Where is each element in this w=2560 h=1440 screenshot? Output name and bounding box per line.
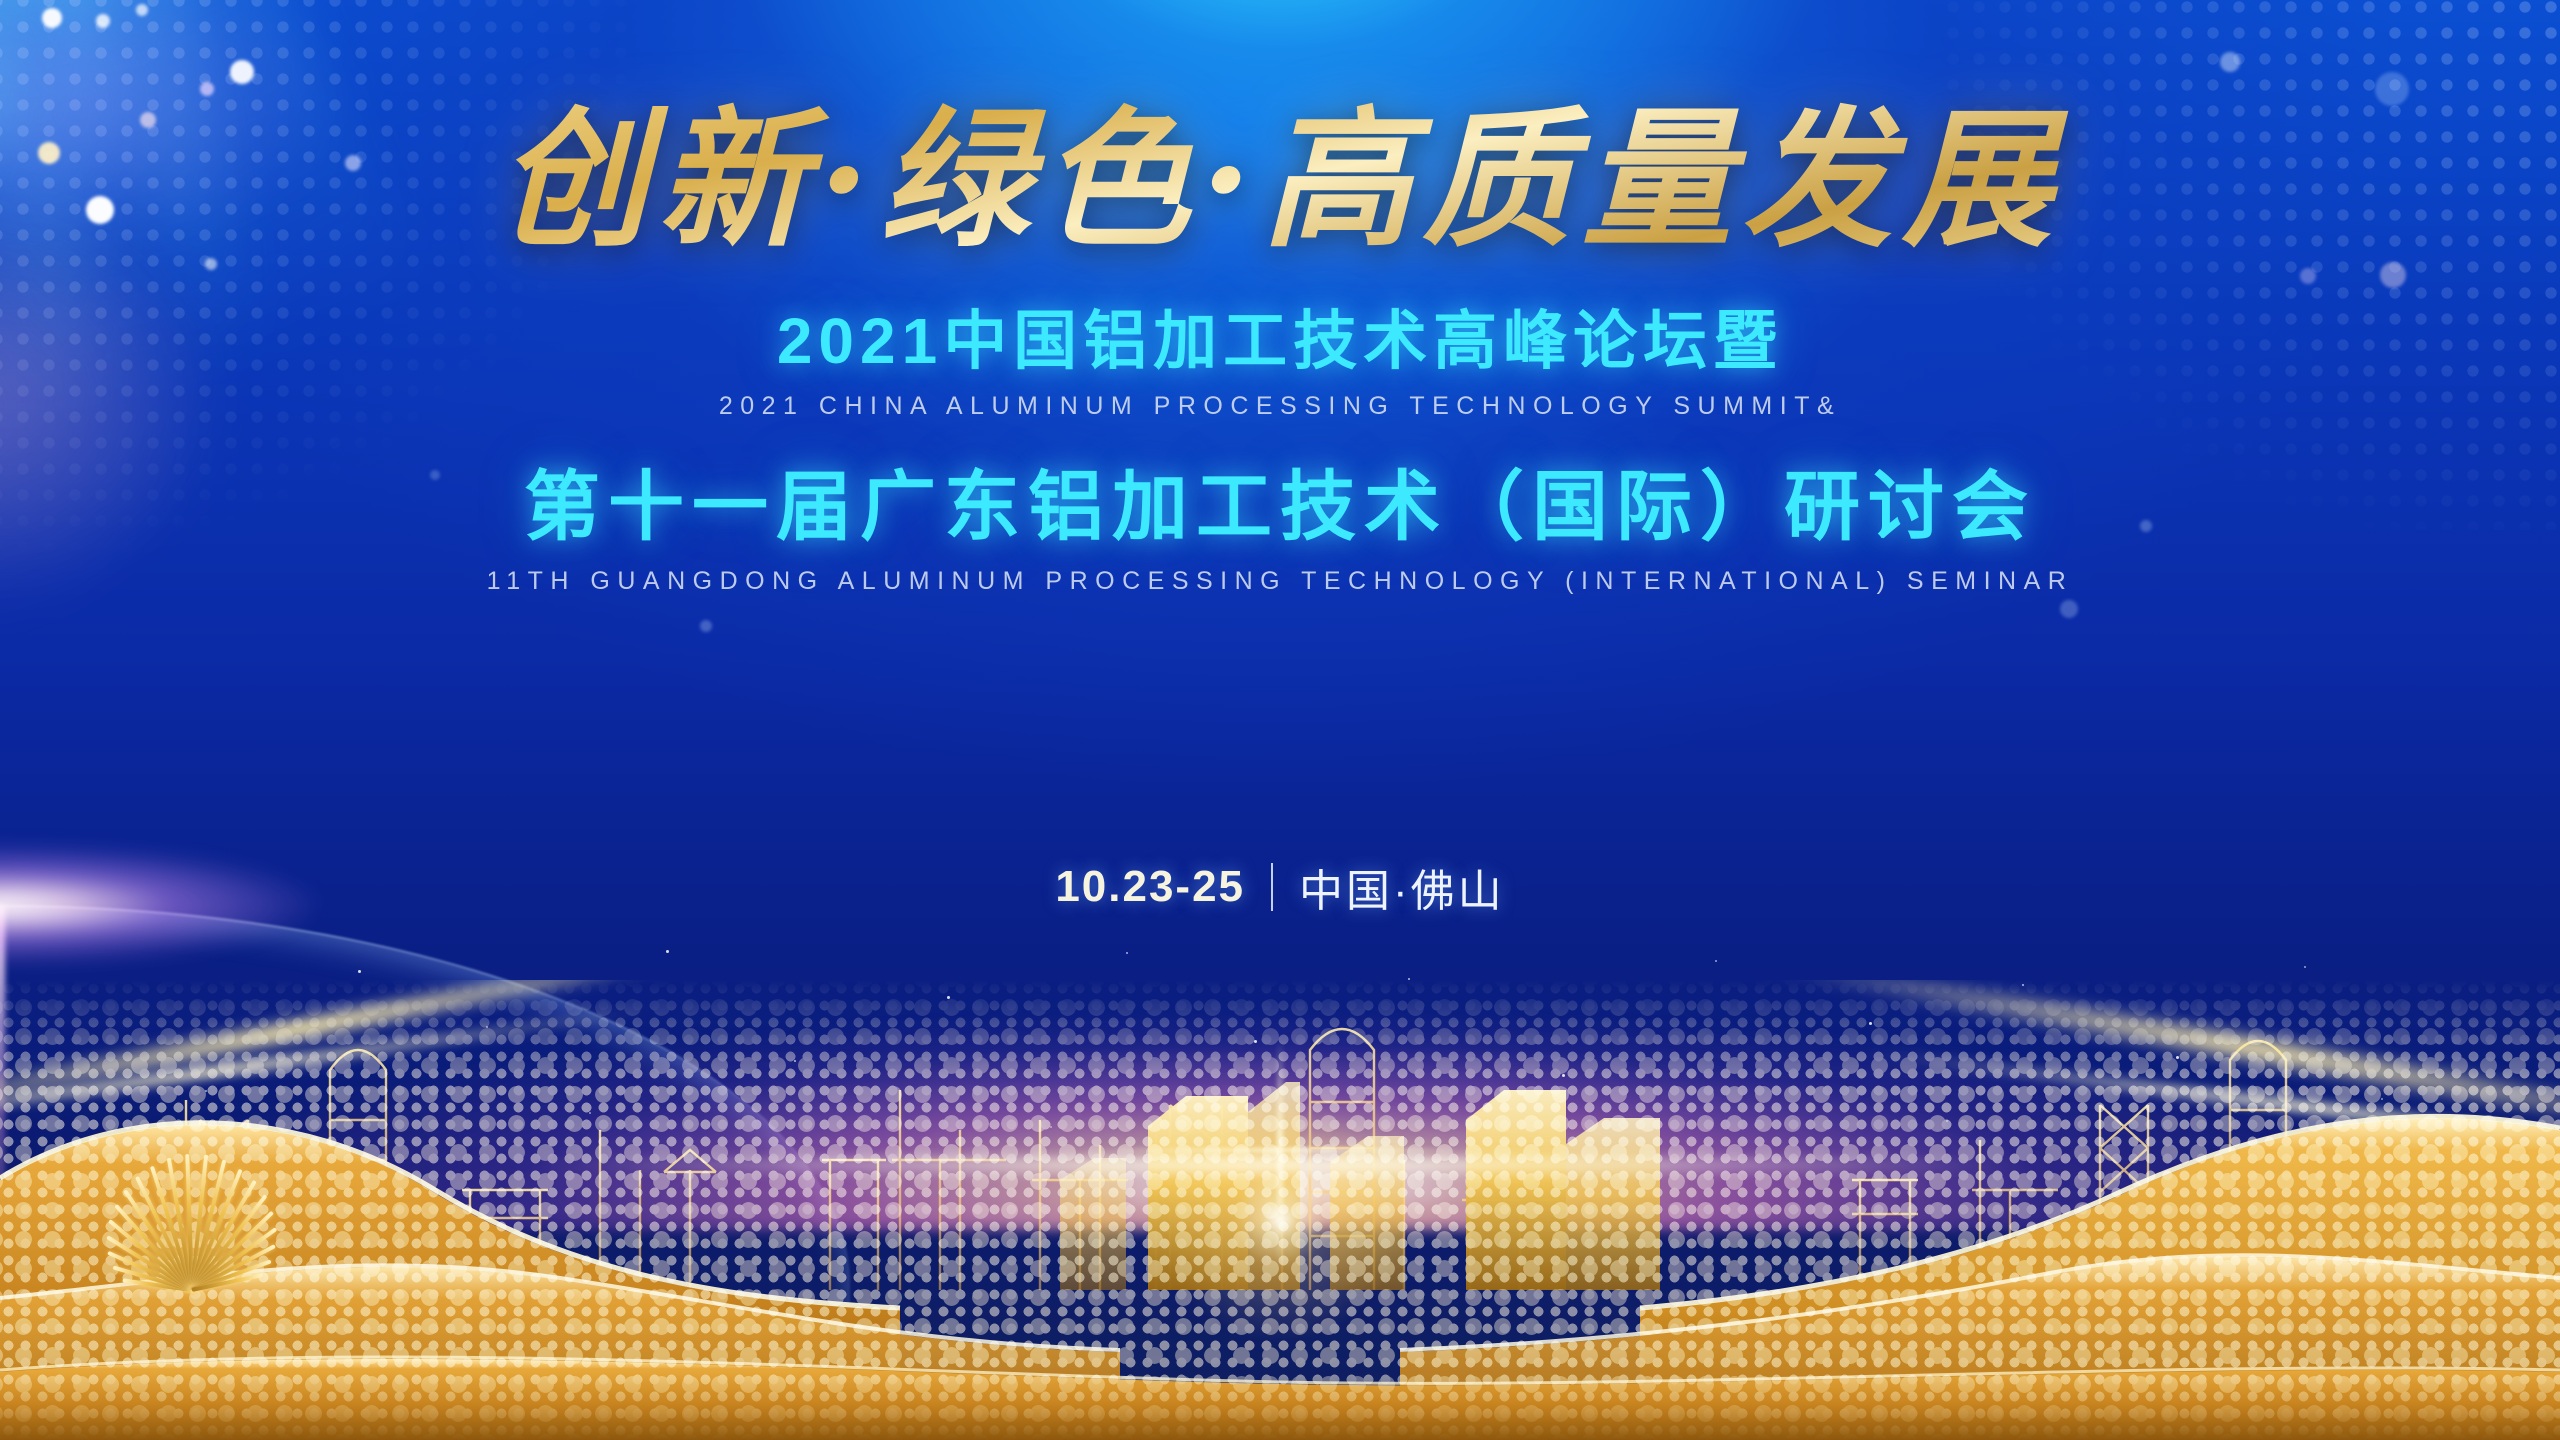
event-date: 10.23-25 — [1055, 862, 1245, 912]
title-english-line-1: 2021 CHINA ALUMINUM PROCESSING TECHNOLOG… — [0, 392, 2560, 421]
banner-text-block: 创新·绿色·高质量发展 2021中国铝加工技术高峰论坛暨 2021 CHINA … — [0, 0, 2560, 596]
event-meta: 10.23-25 中国·佛山 — [0, 855, 2560, 919]
gold-rod-fan-decoration — [40, 1110, 340, 1290]
title-chinese-line-2: 第十一届广东铝加工技术（国际）研讨会 — [0, 445, 2560, 555]
conference-banner: 创新·绿色·高质量发展 2021中国铝加工技术高峰论坛暨 2021 CHINA … — [0, 0, 2560, 1440]
meta-separator — [1271, 863, 1273, 911]
title-chinese-line-1: 2021中国铝加工技术高峰论坛暨 — [0, 290, 2560, 382]
golden-sand-dunes — [0, 980, 2560, 1440]
headline-calligraphy: 创新·绿色·高质量发展 — [0, 0, 2560, 264]
title-english-line-2: 11TH GUANGDONG ALUMINUM PROCESSING TECHN… — [0, 567, 2560, 596]
event-location: 中国·佛山 — [1299, 855, 1505, 919]
